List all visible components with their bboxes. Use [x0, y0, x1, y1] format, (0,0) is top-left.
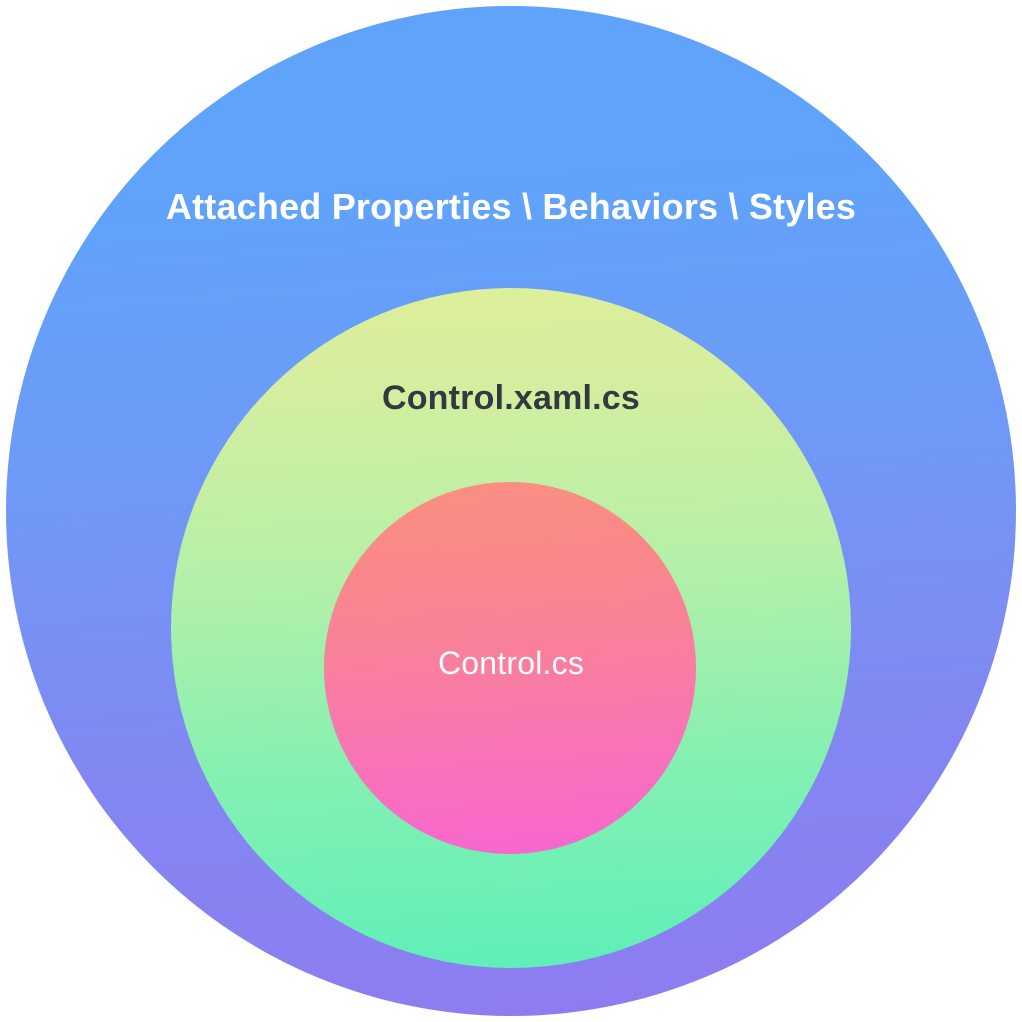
- outer-circle-label: Attached Properties \ Behaviors \ Styles: [0, 186, 1022, 228]
- diagram-canvas: Attached Properties \ Behaviors \ Styles…: [0, 0, 1022, 1022]
- outer-circle-attached-properties: [6, 6, 1016, 1016]
- middle-circle-label: Control.xaml.cs: [0, 379, 1022, 418]
- inner-circle-label: Control.cs: [0, 645, 1022, 682]
